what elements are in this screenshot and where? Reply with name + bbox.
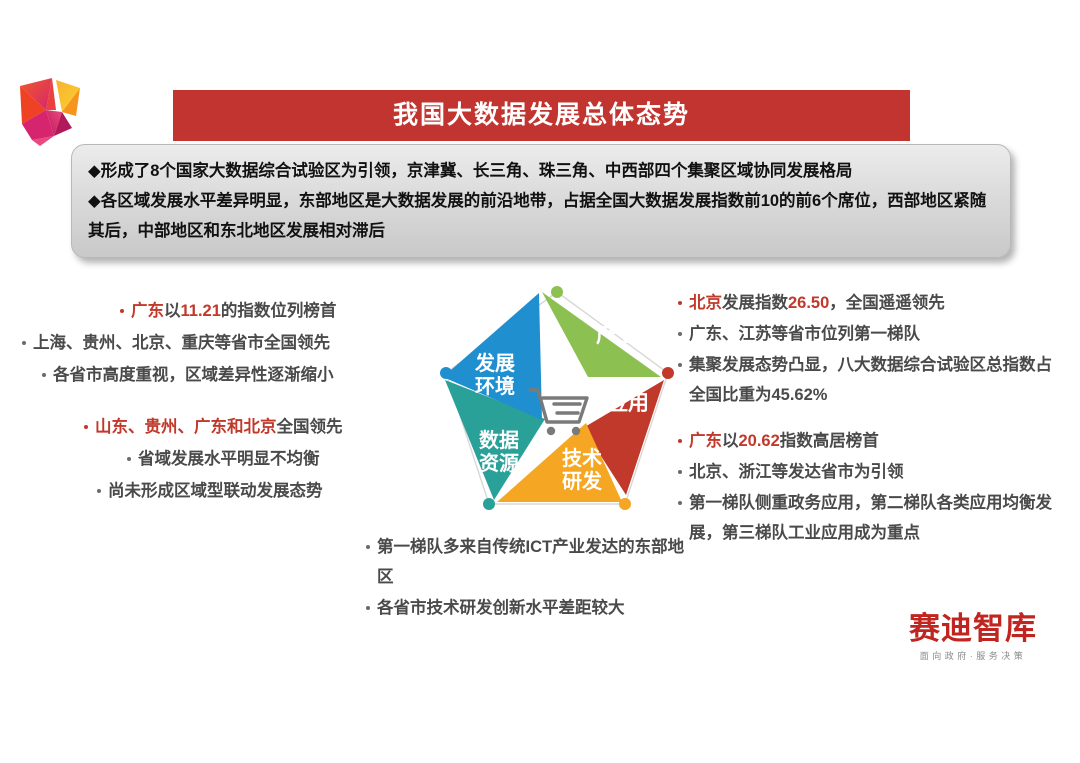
brand-logo: 赛迪智库 面向政府·服务决策: [900, 612, 1046, 662]
slide-canvas: 我国大数据发展总体态势 ◆形成了8个国家大数据综合试验区为引领，京津冀、长三角、…: [0, 0, 1080, 763]
center-item-2: 各省市技术研发创新水平差距较大: [377, 593, 625, 623]
center-item-1: 第一梯队多来自传统ICT产业发达的东部地区: [377, 532, 686, 592]
list-item: 广东、江苏等省市位列第一梯队: [678, 319, 1068, 349]
page-title: 我国大数据发展总体态势: [393, 103, 690, 128]
list-item: 山东、贵州、广东和北京全国领先: [12, 412, 422, 442]
pentagon-diagram: 产业 应用 技术 研发 数据 资源 发展 环境: [432, 280, 682, 530]
left-item-1-region: 广东: [131, 302, 164, 320]
right-item-4: 广东以20.62指数高居榜首: [689, 426, 879, 456]
right-item-1: 北京发展指数26.50，全国遥遥领先: [689, 288, 945, 318]
bullet-dot-icon: [366, 545, 370, 549]
bullet-dot-icon: [678, 470, 682, 474]
right-item-4-mid: 以: [722, 432, 739, 450]
right-item-6: 第一梯队侧重政务应用，第二梯队各类应用均衡发展，第三梯队工业应用成为重点: [689, 488, 1068, 548]
list-item: 各省市技术研发创新水平差距较大: [366, 593, 686, 623]
bullet-dot-icon: [127, 457, 131, 461]
left-item-1-mid: 以: [164, 302, 181, 320]
left-item-1: 广东以11.21的指数位列榜首: [131, 296, 336, 326]
vertex-dot-data: [483, 498, 495, 510]
list-item: 北京、浙江等发达省市为引领: [678, 457, 1068, 487]
left-item-1-tail: 的指数位列榜首: [221, 302, 337, 320]
left-item-2: 上海、贵州、北京、重庆等省市全国领先: [33, 328, 330, 358]
right-item-4-number: 20.62: [739, 432, 780, 450]
vertex-dot-application: [662, 367, 674, 379]
bullet-dot-icon: [678, 439, 682, 443]
bullet-dot-icon: [42, 373, 46, 377]
segment-label-data: 数据: [479, 428, 519, 452]
right-item-1-tail: ，全国遥遥领先: [829, 294, 945, 312]
logo-tagline: 面向政府·服务决策: [900, 649, 1046, 662]
slide-title-bar: 我国大数据发展总体态势: [173, 90, 910, 141]
bullet-dot-icon: [84, 425, 88, 429]
right-item-5: 北京、浙江等发达省市为引领: [689, 457, 904, 487]
bullet-dot-icon: [120, 309, 124, 313]
summary-line-1: ◆形成了8个国家大数据综合试验区为引领，京津冀、长三角、珠三角、中西部四个集聚区…: [88, 156, 994, 186]
logo-name: 赛迪智库: [900, 612, 1046, 646]
segment-label-application: 应用: [607, 391, 649, 415]
right-item-1-number: 26.50: [788, 294, 829, 312]
summary-line-2: ◆各区域发展水平差异明显，东部地区是大数据发展的前沿地带，占据全国大数据发展指数…: [88, 186, 994, 246]
left-item-3: 各省市高度重视，区域差异性逐渐缩小: [53, 360, 334, 390]
right-item-1-region: 北京: [689, 294, 722, 312]
left-item-4-tail: 全国领先: [277, 418, 343, 436]
segment-label-data-2: 资源: [479, 451, 519, 475]
right-item-3: 集聚发展态势凸显，八大数据综合试验区总指数占全国比重为45.62%: [689, 350, 1068, 410]
list-item: 各省市高度重视，区域差异性逐渐缩小: [12, 360, 422, 390]
right-bullet-column: 北京发展指数26.50，全国遥遥领先 广东、江苏等省市位列第一梯队 集聚发展态势…: [678, 288, 1068, 549]
left-item-6: 尚未形成区域型联动发展态势: [108, 476, 323, 506]
list-item: 尚未形成区域型联动发展态势: [12, 476, 422, 506]
segment-label-tech-2: 研发: [562, 469, 603, 493]
left-item-1-number: 11.21: [181, 302, 221, 320]
center-bottom-bullet-column: 第一梯队多来自传统ICT产业发达的东部地区 各省市技术研发创新水平差距较大: [366, 532, 686, 624]
list-item: 第一梯队侧重政务应用，第二梯队各类应用均衡发展，第三梯队工业应用成为重点: [678, 488, 1068, 548]
left-bullet-column: 广东以11.21的指数位列榜首 上海、贵州、北京、重庆等省市全国领先 各省市高度…: [12, 296, 422, 508]
bullet-dot-icon: [678, 501, 682, 505]
right-item-4-region: 广东: [689, 432, 722, 450]
bullet-dot-icon: [97, 489, 101, 493]
right-item-4-tail: 指数高居榜首: [780, 432, 879, 450]
segment-label-tech: 技术: [562, 446, 602, 470]
right-item-1-mid: 发展指数: [722, 294, 788, 312]
segment-label-industry: 产业: [596, 323, 638, 347]
bullet-dot-icon: [678, 332, 682, 336]
list-item: 广东以20.62指数高居榜首: [678, 426, 1068, 456]
bullet-dot-icon: [678, 363, 682, 367]
list-item: 集聚发展态势凸显，八大数据综合试验区总指数占全国比重为45.62%: [678, 350, 1068, 410]
list-item: 广东以11.21的指数位列榜首: [12, 296, 422, 326]
vertex-dot-industry: [551, 286, 563, 298]
segment-label-environment: 发展: [474, 351, 515, 375]
segment-label-environment-2: 环境: [475, 374, 515, 398]
bullet-dot-icon: [366, 606, 370, 610]
list-item: 北京发展指数26.50，全国遥遥领先: [678, 288, 1068, 318]
diagram-segment-industry: 产业: [542, 292, 661, 377]
left-item-4: 山东、贵州、广东和北京全国领先: [95, 412, 343, 442]
list-item: 第一梯队多来自传统ICT产业发达的东部地区: [366, 532, 686, 592]
summary-callout-box: ◆形成了8个国家大数据综合试验区为引领，京津冀、长三角、珠三角、中西部四个集聚区…: [71, 144, 1011, 258]
left-item-5: 省域发展水平明显不均衡: [138, 444, 320, 474]
list-item: 上海、贵州、北京、重庆等省市全国领先: [12, 328, 422, 358]
bullet-dot-icon: [22, 341, 26, 345]
right-item-2: 广东、江苏等省市位列第一梯队: [689, 319, 920, 349]
bullet-dot-icon: [678, 301, 682, 305]
left-item-4-regions: 山东、贵州、广东和北京: [95, 418, 277, 436]
polygon-decoration-icon: [10, 66, 92, 150]
list-item: 省域发展水平明显不均衡: [12, 444, 422, 474]
